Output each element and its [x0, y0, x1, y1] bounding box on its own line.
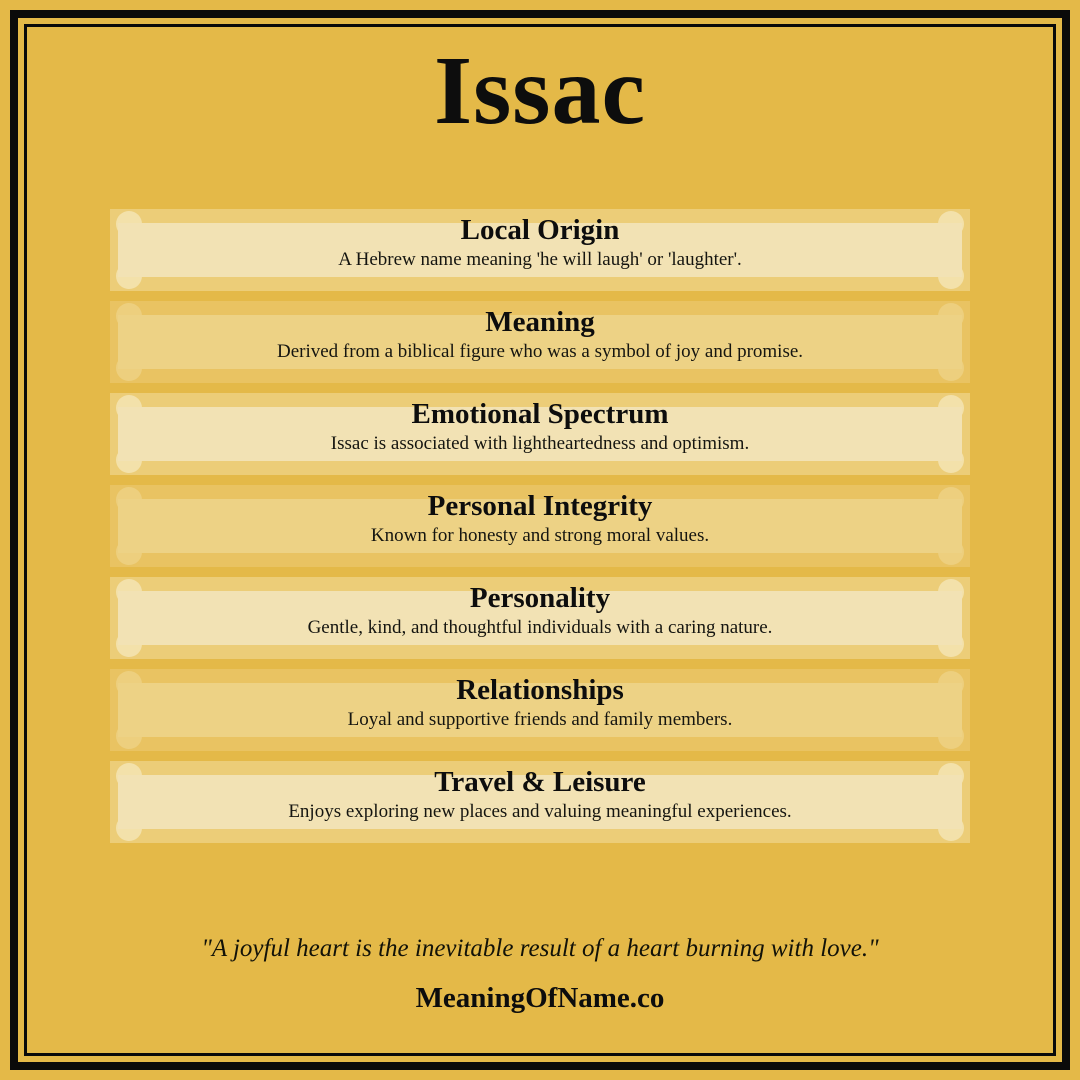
- card-heading: Relationships: [110, 676, 970, 705]
- card-text: Emotional SpectrumIssac is associated wi…: [110, 393, 970, 475]
- card-description: Known for honesty and strong moral value…: [110, 526, 970, 545]
- card-description: Loyal and supportive friends and family …: [110, 710, 970, 729]
- card-description: Derived from a biblical figure who was a…: [110, 342, 970, 361]
- card-heading: Emotional Spectrum: [110, 400, 970, 429]
- footer-quote: "A joyful heart is the inevitable result…: [0, 935, 1080, 963]
- poster-content: Issac Local OriginA Hebrew name meaning …: [0, 0, 1080, 1080]
- attribute-card: Travel & LeisureEnjoys exploring new pla…: [110, 761, 970, 843]
- attribute-card: MeaningDerived from a biblical figure wh…: [110, 301, 970, 383]
- card-text: MeaningDerived from a biblical figure wh…: [110, 301, 970, 383]
- card-text: PersonalityGentle, kind, and thoughtful …: [110, 577, 970, 659]
- attribute-card: RelationshipsLoyal and supportive friend…: [110, 669, 970, 751]
- card-heading: Local Origin: [110, 216, 970, 245]
- card-heading: Travel & Leisure: [110, 768, 970, 797]
- attribute-card-list: Local OriginA Hebrew name meaning 'he wi…: [110, 209, 970, 853]
- footer-brand: MeaningOfName.co: [0, 982, 1080, 1015]
- attribute-card: PersonalityGentle, kind, and thoughtful …: [110, 577, 970, 659]
- attribute-card: Local OriginA Hebrew name meaning 'he wi…: [110, 209, 970, 291]
- card-heading: Personal Integrity: [110, 492, 970, 521]
- card-description: Issac is associated with lightheartednes…: [110, 434, 970, 453]
- card-text: Local OriginA Hebrew name meaning 'he wi…: [110, 209, 970, 291]
- card-text: Travel & LeisureEnjoys exploring new pla…: [110, 761, 970, 843]
- card-text: Personal IntegrityKnown for honesty and …: [110, 485, 970, 567]
- name-meaning-poster: Issac Local OriginA Hebrew name meaning …: [0, 0, 1080, 1080]
- attribute-card: Personal IntegrityKnown for honesty and …: [110, 485, 970, 567]
- card-description: A Hebrew name meaning 'he will laugh' or…: [110, 250, 970, 269]
- card-heading: Personality: [110, 584, 970, 613]
- page-title: Issac: [0, 38, 1080, 146]
- card-description: Gentle, kind, and thoughtful individuals…: [110, 618, 970, 637]
- card-description: Enjoys exploring new places and valuing …: [110, 802, 970, 821]
- attribute-card: Emotional SpectrumIssac is associated wi…: [110, 393, 970, 475]
- card-text: RelationshipsLoyal and supportive friend…: [110, 669, 970, 751]
- card-heading: Meaning: [110, 308, 970, 337]
